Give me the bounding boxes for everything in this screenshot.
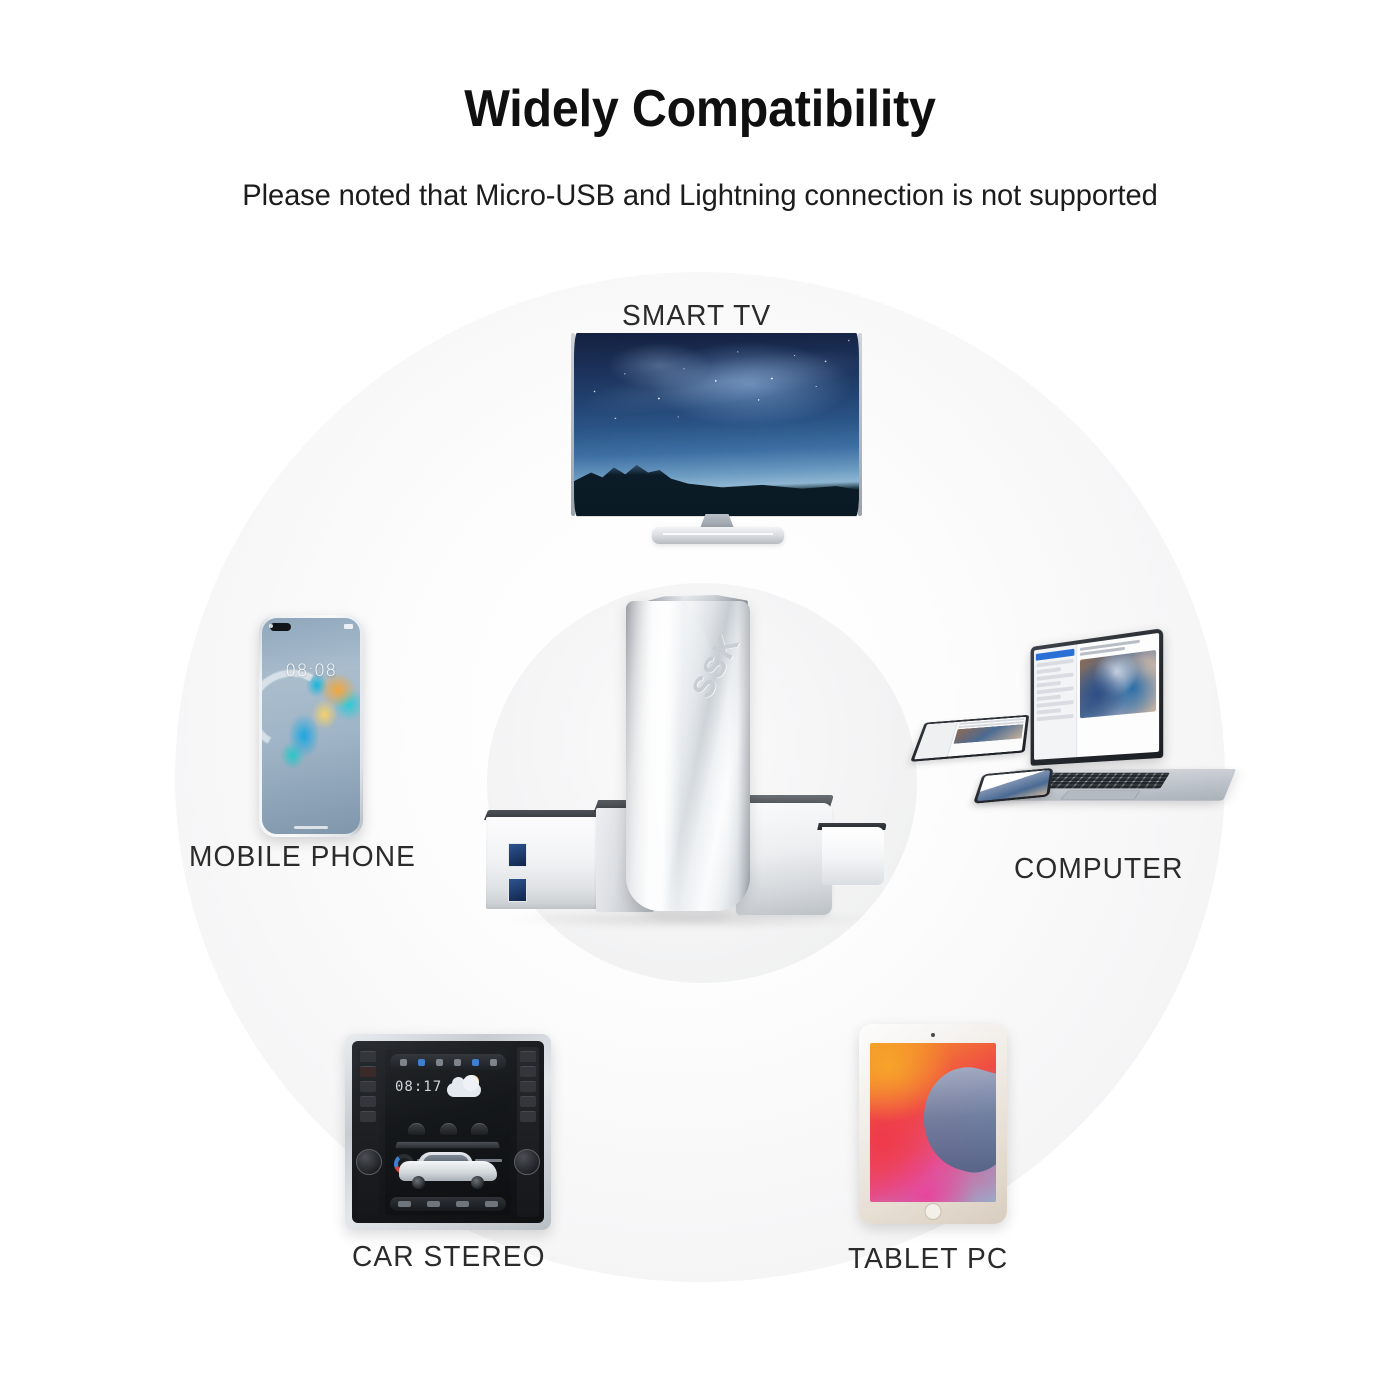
computer-illustration bbox=[916, 636, 1238, 826]
label-tablet-pc: TABLET PC bbox=[848, 1243, 1008, 1276]
car-side-button bbox=[520, 1111, 536, 1122]
car-side-button bbox=[520, 1081, 536, 1092]
car-bottom-button bbox=[398, 1201, 411, 1207]
usb-a-connector bbox=[486, 817, 608, 909]
sidebar-row bbox=[1037, 686, 1073, 694]
car-weather-widget bbox=[445, 1075, 499, 1101]
sidebar-row bbox=[1037, 700, 1073, 708]
car-status-icon bbox=[472, 1059, 479, 1066]
cloud-icon bbox=[447, 1083, 481, 1097]
sidebar-row bbox=[1037, 681, 1061, 688]
laptop-trackpad bbox=[1060, 790, 1141, 799]
tablet-body bbox=[859, 1024, 1007, 1224]
car-status-icon bbox=[436, 1059, 443, 1066]
usb-c-connector bbox=[822, 827, 884, 885]
car-status-icon bbox=[400, 1059, 407, 1066]
signal-icon bbox=[269, 624, 273, 628]
car-bottom-button bbox=[485, 1201, 498, 1207]
car-shelf-graphic bbox=[395, 1142, 500, 1148]
phone-screen: 08:08 bbox=[262, 618, 360, 834]
label-mobile-phone: MOBILE PHONE bbox=[189, 841, 416, 874]
car-side-button bbox=[360, 1081, 376, 1092]
secondary-tablet bbox=[910, 715, 1029, 762]
car-stereo-panel: 08:17 bbox=[352, 1041, 544, 1223]
car-clock: 08:17 bbox=[395, 1079, 442, 1095]
car-vent bbox=[440, 1123, 457, 1135]
sidebar-row bbox=[1037, 667, 1061, 674]
car-side-button bbox=[360, 1111, 376, 1122]
car-vent bbox=[471, 1123, 488, 1135]
car-side-button bbox=[520, 1051, 536, 1062]
car-status-icon bbox=[490, 1059, 497, 1066]
car-right-button-column bbox=[517, 1047, 539, 1217]
battery-icon bbox=[344, 624, 353, 629]
laptop-app-sidebar bbox=[1034, 644, 1077, 759]
tablet-home-button bbox=[925, 1203, 942, 1220]
secondary-tablet-screen bbox=[914, 717, 1026, 760]
usb-swivel-body: SSK bbox=[626, 601, 750, 911]
vehicle-wheel bbox=[412, 1176, 425, 1189]
usb-a-contact-pad bbox=[508, 843, 527, 867]
car-side-button bbox=[520, 1066, 536, 1077]
car-bottom-button bbox=[456, 1201, 469, 1207]
car-status-icon bbox=[454, 1059, 461, 1066]
compatibility-diagram: SMART TV 08:08 MOBILE PHONE bbox=[0, 0, 1400, 1400]
phone-status-bar bbox=[262, 622, 360, 630]
car-hazard-button bbox=[360, 1066, 376, 1077]
vehicle-wheel bbox=[471, 1176, 484, 1189]
laptop-screen bbox=[1034, 633, 1159, 760]
car-side-button bbox=[360, 1051, 376, 1062]
car-left-button-column bbox=[357, 1047, 379, 1217]
laptop-lid bbox=[1031, 628, 1164, 766]
label-computer: COMPUTER bbox=[1014, 853, 1184, 886]
car-bottom-bar bbox=[390, 1197, 506, 1211]
tablet-wallpaper-swoosh bbox=[911, 1058, 996, 1181]
car-right-knob bbox=[514, 1149, 540, 1175]
sidebar-row bbox=[1037, 659, 1073, 668]
car-side-button bbox=[520, 1096, 536, 1107]
car-vent-row bbox=[408, 1123, 489, 1135]
car-status-icon bbox=[418, 1059, 425, 1066]
smart-tv-illustration bbox=[566, 333, 866, 548]
sidebar-row bbox=[1037, 673, 1073, 681]
sidebar-row bbox=[1037, 714, 1073, 721]
sidebar-row bbox=[1037, 695, 1061, 701]
laptop-app-content bbox=[1077, 633, 1159, 757]
car-stereo-illustration: 08:17 bbox=[345, 1034, 551, 1230]
tablet-pc-illustration bbox=[859, 1024, 1007, 1224]
mobile-phone-illustration: 08:08 bbox=[259, 615, 363, 837]
label-car-stereo: CAR STEREO bbox=[352, 1241, 546, 1274]
usb-a-contact-pad bbox=[508, 878, 527, 902]
phone-body: 08:08 bbox=[259, 615, 363, 837]
tablet-screen bbox=[870, 1043, 996, 1202]
label-smart-tv: SMART TV bbox=[622, 300, 771, 333]
tv-stand bbox=[652, 527, 784, 544]
tablet-front-camera-icon bbox=[931, 1033, 935, 1037]
car-status-bar bbox=[390, 1054, 506, 1070]
content-photo bbox=[1079, 650, 1156, 719]
car-side-button bbox=[360, 1096, 376, 1107]
usb-flash-drive-product: SSK bbox=[478, 595, 908, 945]
tv-screen bbox=[574, 333, 859, 516]
car-vent bbox=[408, 1123, 425, 1135]
car-display-screen: 08:17 bbox=[385, 1049, 511, 1215]
usb-body-right bbox=[736, 803, 832, 915]
car-vehicle-graphic bbox=[395, 1149, 501, 1189]
sidebar-row bbox=[1037, 708, 1061, 714]
car-bottom-button bbox=[427, 1201, 440, 1207]
secondary-phone-screen bbox=[977, 770, 1050, 801]
phone-clock: 08:08 bbox=[262, 661, 360, 681]
phone-home-indicator bbox=[294, 826, 328, 829]
secondary-tablet-content bbox=[948, 717, 1026, 757]
car-left-knob bbox=[356, 1149, 382, 1175]
